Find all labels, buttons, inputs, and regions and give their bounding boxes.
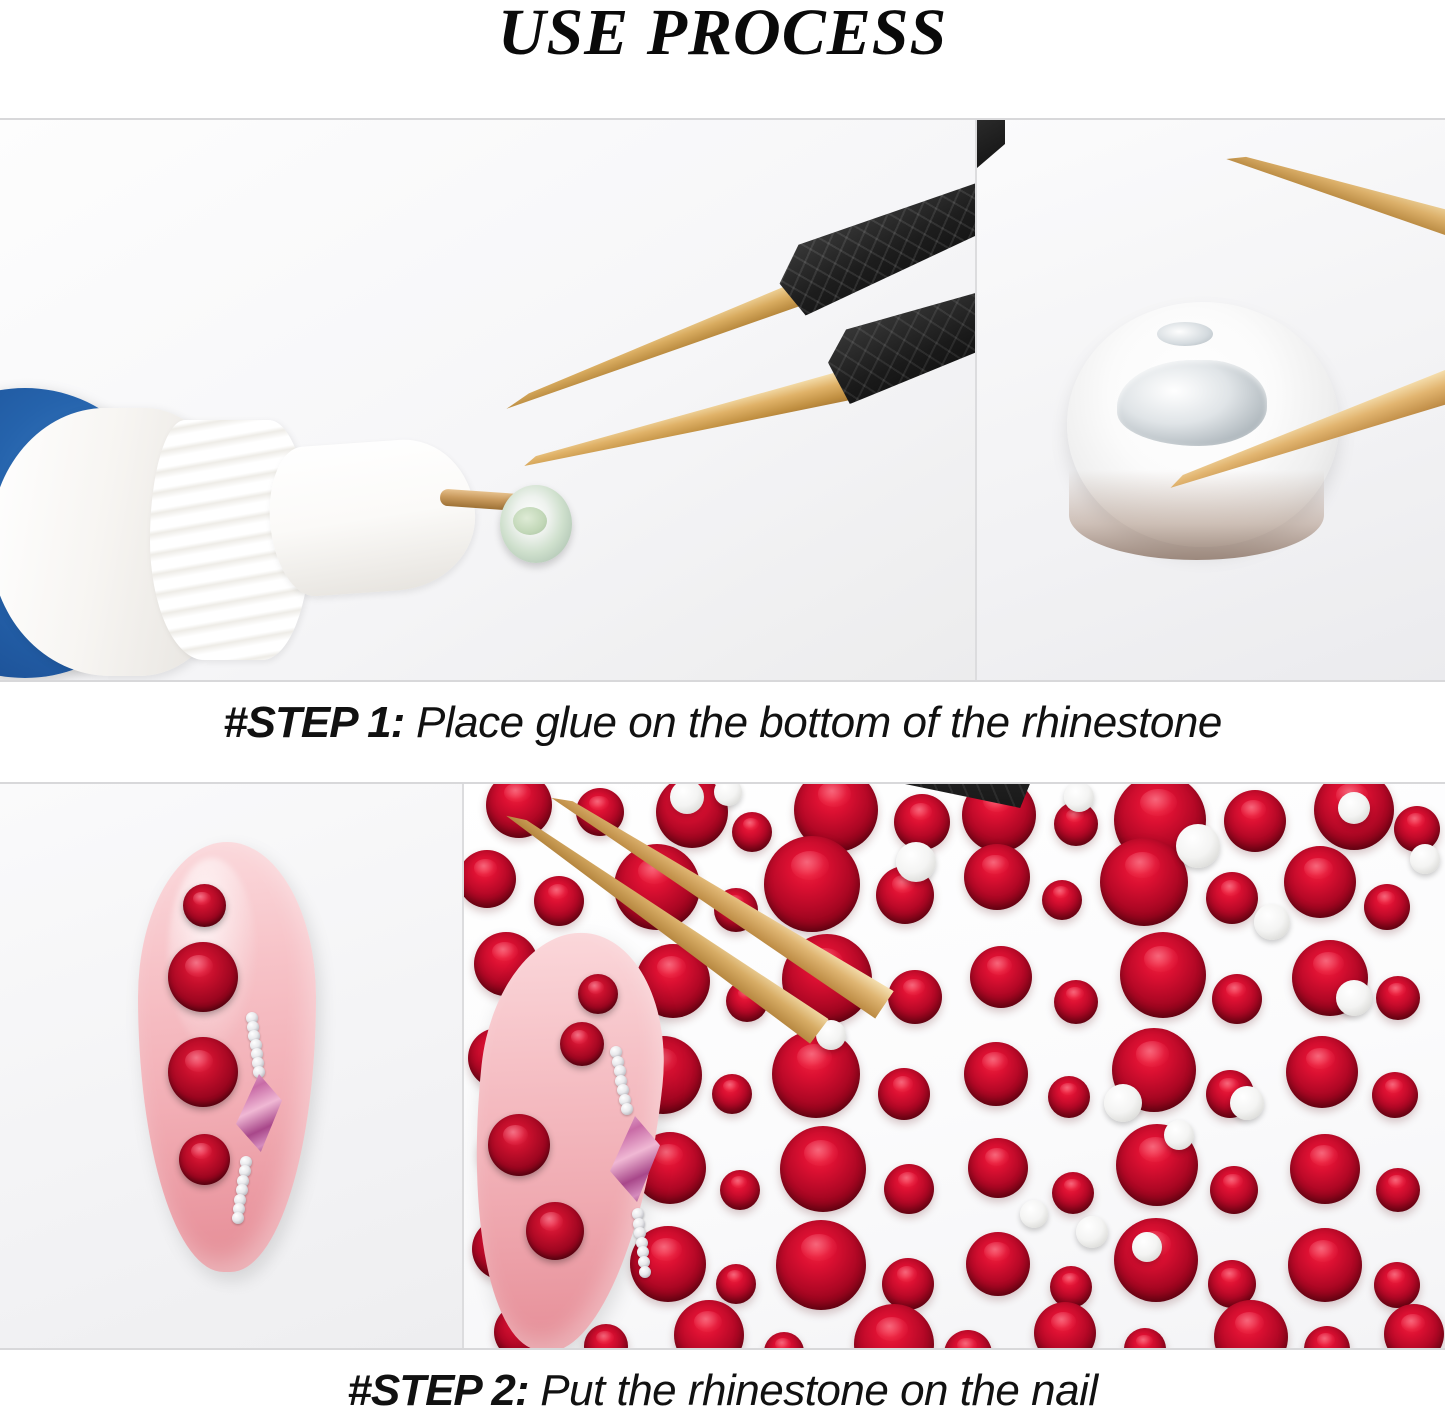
rhinestone-foil-back: [1020, 1200, 1048, 1228]
rhinestone-foil-back: [1104, 1084, 1142, 1122]
rhinestone-scatter-and-nail-photo: [462, 784, 1445, 1348]
rhinestone-foil-back: [1254, 904, 1290, 940]
red-rhinestone: [488, 1114, 550, 1176]
tweezer-upper-grip-icon: [769, 173, 975, 321]
red-rhinestone: [878, 1068, 930, 1120]
silver-bead: [621, 1103, 633, 1115]
red-rhinestone: [732, 812, 772, 852]
red-rhinestone: [584, 1324, 628, 1348]
red-rhinestone: [1224, 790, 1286, 852]
red-rhinestone: [1054, 980, 1098, 1024]
red-rhinestone: [964, 844, 1030, 910]
red-rhinestone: [854, 1304, 934, 1348]
step-1-photo-row: [0, 118, 1445, 682]
glue-bottle-and-tweezers-photo: [0, 120, 975, 680]
red-rhinestone: [1210, 1166, 1258, 1214]
red-rhinestone: [1286, 1036, 1358, 1108]
red-rhinestone: [966, 1232, 1030, 1296]
red-rhinestone: [720, 1170, 760, 1210]
rhinestone-with-glue: [500, 485, 572, 563]
red-rhinestone: [970, 946, 1032, 1008]
rhinestone-foil-back: [1338, 792, 1370, 824]
red-rhinestone: [1384, 1304, 1444, 1348]
silver-bead: [232, 1212, 244, 1224]
rhinestone-foil-back: [1164, 1120, 1194, 1150]
tweezer-lower-arm-icon: [520, 368, 859, 487]
red-rhinestone: [882, 1258, 934, 1310]
red-rhinestone: [1374, 1262, 1420, 1308]
tweezer-grip-corner-icon: [975, 120, 1005, 180]
red-rhinestone: [894, 794, 950, 850]
red-rhinestone: [888, 970, 942, 1024]
page-title: USE PROCESS: [0, 0, 1445, 68]
rhinestone-foil-back: [1176, 824, 1220, 868]
rhinestone-foil-back: [714, 784, 742, 806]
red-rhinestone: [168, 1037, 238, 1107]
step-2-section: #STEP 2: Put the rhinestone on the nail: [0, 782, 1445, 1416]
red-rhinestone: [1052, 1172, 1094, 1214]
red-rhinestone: [964, 1042, 1028, 1106]
red-rhinestone: [1042, 880, 1082, 920]
rhinestone-foil-back: [1410, 844, 1440, 874]
red-rhinestone: [1124, 1328, 1166, 1348]
step-2-photo-row: [0, 782, 1445, 1350]
red-rhinestone: [712, 1074, 752, 1114]
red-rhinestone: [716, 1264, 756, 1304]
red-rhinestone: [968, 1138, 1028, 1198]
red-rhinestone: [1288, 1228, 1362, 1302]
tweezer-upper-arm-icon: [1222, 131, 1445, 268]
step-2-label: #STEP 2:: [347, 1366, 528, 1415]
red-rhinestone: [764, 1332, 804, 1348]
red-rhinestone: [1290, 1134, 1360, 1204]
red-rhinestone: [764, 836, 860, 932]
red-rhinestone: [1034, 1302, 1096, 1348]
finished-nail-photo: [0, 784, 462, 1348]
red-rhinestone: [776, 1220, 866, 1310]
red-rhinestone: [1364, 884, 1410, 930]
rhinestone-foil-back: [1230, 1086, 1264, 1120]
step-2-text: Put the rhinestone on the nail: [528, 1366, 1097, 1415]
step-1-caption: #STEP 1: Place glue on the bottom of the…: [0, 682, 1445, 748]
red-rhinestone: [1212, 974, 1262, 1024]
red-rhinestone: [183, 884, 226, 927]
red-rhinestone: [1372, 1072, 1418, 1118]
red-rhinestone: [674, 1300, 744, 1348]
rhinestone-foil-back: [1076, 1216, 1108, 1248]
red-rhinestone: [1206, 872, 1258, 924]
step-2-caption: #STEP 2: Put the rhinestone on the nail: [0, 1350, 1445, 1416]
red-rhinestone: [1376, 1168, 1420, 1212]
red-rhinestone: [944, 1330, 992, 1348]
red-rhinestone: [560, 1022, 604, 1066]
red-rhinestone: [486, 784, 552, 838]
red-rhinestone: [578, 974, 618, 1014]
red-rhinestone: [780, 1126, 866, 1212]
red-rhinestone: [1100, 838, 1188, 926]
step-1-section: #STEP 1: Place glue on the bottom of the…: [0, 118, 1445, 748]
glue-drop: [1117, 360, 1267, 446]
rhinestone-rim: [1069, 470, 1324, 560]
silver-bead: [639, 1266, 651, 1278]
red-rhinestone: [1304, 1326, 1350, 1348]
glue-bottle-nozzle: [265, 435, 480, 599]
rhinestone-foil-back: [1132, 1232, 1162, 1262]
rhinestone-foil-back: [896, 842, 936, 882]
red-rhinestone: [1284, 846, 1356, 918]
red-rhinestone: [1120, 932, 1206, 1018]
rhinestone-closeup-photo: [975, 120, 1445, 680]
red-rhinestone: [179, 1134, 230, 1185]
red-rhinestone: [534, 876, 584, 926]
red-rhinestone: [884, 1164, 934, 1214]
red-rhinestone: [462, 850, 516, 908]
red-rhinestone: [1114, 1218, 1198, 1302]
rhinestone-foil-back: [1336, 980, 1372, 1016]
red-rhinestone: [772, 1030, 860, 1118]
red-rhinestone: [1376, 976, 1420, 1020]
red-rhinestone: [168, 942, 238, 1012]
step-1-text: Place glue on the bottom of the rhinesto…: [404, 698, 1222, 747]
red-rhinestone: [1048, 1076, 1090, 1118]
red-rhinestone: [526, 1202, 584, 1260]
glue-bubble: [1157, 322, 1213, 346]
step-1-label: #STEP 1:: [223, 698, 404, 747]
